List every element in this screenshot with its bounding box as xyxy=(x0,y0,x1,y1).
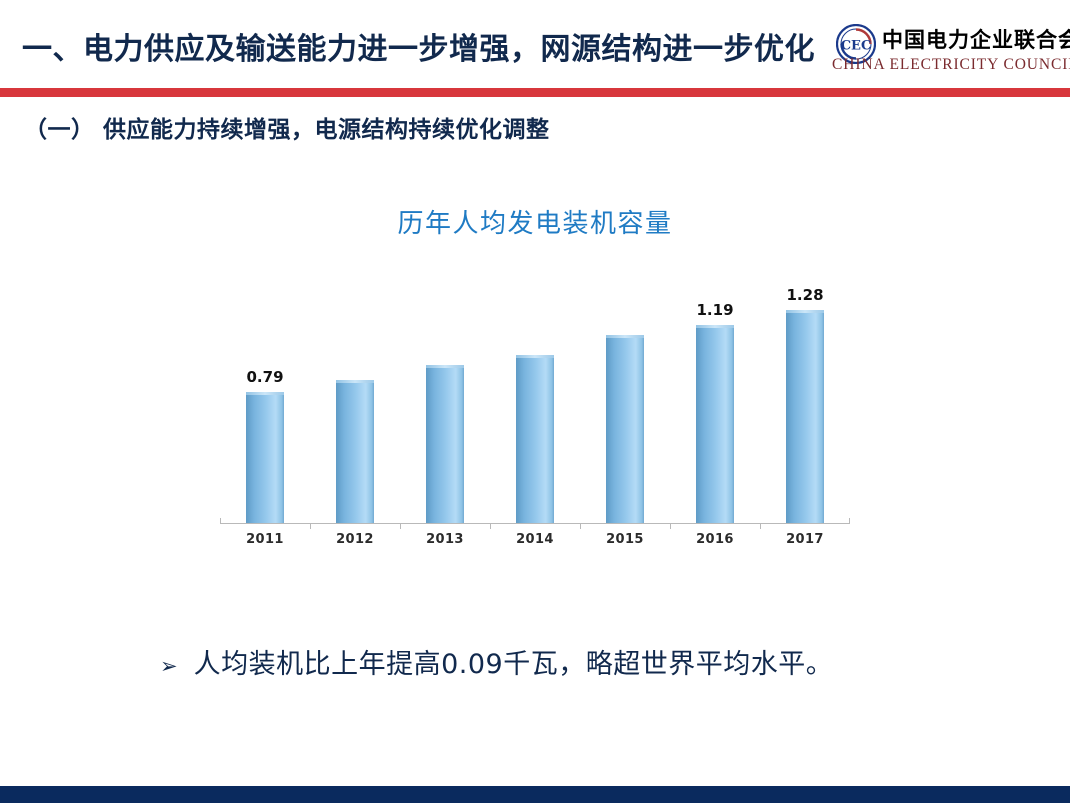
chart-bar xyxy=(696,325,734,523)
x-axis-category-label: 2017 xyxy=(760,532,850,547)
x-axis-tick xyxy=(400,523,401,529)
x-axis-category-label: 2012 xyxy=(310,532,400,547)
bar-slot xyxy=(310,270,400,523)
chart-plot-area: 0.79201120122013201420151.1920161.282017 xyxy=(220,270,850,523)
footer-bar xyxy=(0,786,1070,803)
bar-chart: 0.79201120122013201420151.1920161.282017 xyxy=(220,270,850,560)
arrow-bullet-icon: ➢ xyxy=(160,656,178,677)
bar-slot: 1.19 xyxy=(670,270,760,523)
x-axis-line xyxy=(220,523,850,524)
header-red-divider xyxy=(0,88,1070,97)
bar-slot: 0.79 xyxy=(220,270,310,523)
x-axis-tick xyxy=(490,523,491,529)
bar-value-label: 0.79 xyxy=(246,368,283,386)
page-title: 一、电力供应及输送能力进一步增强，网源结构进一步优化 xyxy=(22,24,822,68)
x-axis-category-label: 2015 xyxy=(580,532,670,547)
slide: 一、电力供应及输送能力进一步增强，网源结构进一步优化 CEC 中国电力企业联合会… xyxy=(0,0,1070,803)
x-axis-category-label: 2011 xyxy=(220,532,310,547)
x-axis-tick xyxy=(580,523,581,529)
bar-slot xyxy=(400,270,490,523)
bar-slot xyxy=(580,270,670,523)
x-axis-category-label: 2013 xyxy=(400,532,490,547)
x-axis-tick xyxy=(670,523,671,529)
bar-slot xyxy=(490,270,580,523)
key-point-row: ➢ 人均装机比上年提高0.09千瓦，略超世界平均水平。 xyxy=(160,642,960,681)
svg-text:CEC: CEC xyxy=(841,39,872,54)
section-subtitle: （一） 供应能力持续增强，电源结构持续优化调整 xyxy=(24,110,550,144)
x-axis-category-label: 2016 xyxy=(670,532,760,547)
chart-bar xyxy=(516,355,554,523)
organization-logo: CEC 中国电力企业联合会 CHINA ELECTRICITY COUNCIL xyxy=(830,22,1062,84)
chart-bar xyxy=(786,310,824,523)
x-axis-category-label: 2014 xyxy=(490,532,580,547)
x-axis-tick xyxy=(760,523,761,529)
chart-bar xyxy=(336,380,374,523)
chart-bar xyxy=(426,365,464,523)
chart-bar xyxy=(606,335,644,523)
chart-title: 历年人均发电装机容量 xyxy=(0,203,1070,240)
bar-slot: 1.28 xyxy=(760,270,850,523)
key-point-text: 人均装机比上年提高0.09千瓦，略超世界平均水平。 xyxy=(194,642,834,681)
bar-value-label: 1.19 xyxy=(696,301,733,319)
logo-name-cn: 中国电力企业联合会 xyxy=(882,24,1070,54)
bar-value-label: 1.28 xyxy=(786,286,823,304)
logo-name-en: CHINA ELECTRICITY COUNCIL xyxy=(832,56,1070,74)
chart-bar xyxy=(246,392,284,523)
x-axis-tick xyxy=(310,523,311,529)
slide-header: 一、电力供应及输送能力进一步增强，网源结构进一步优化 CEC 中国电力企业联合会… xyxy=(0,0,1070,88)
